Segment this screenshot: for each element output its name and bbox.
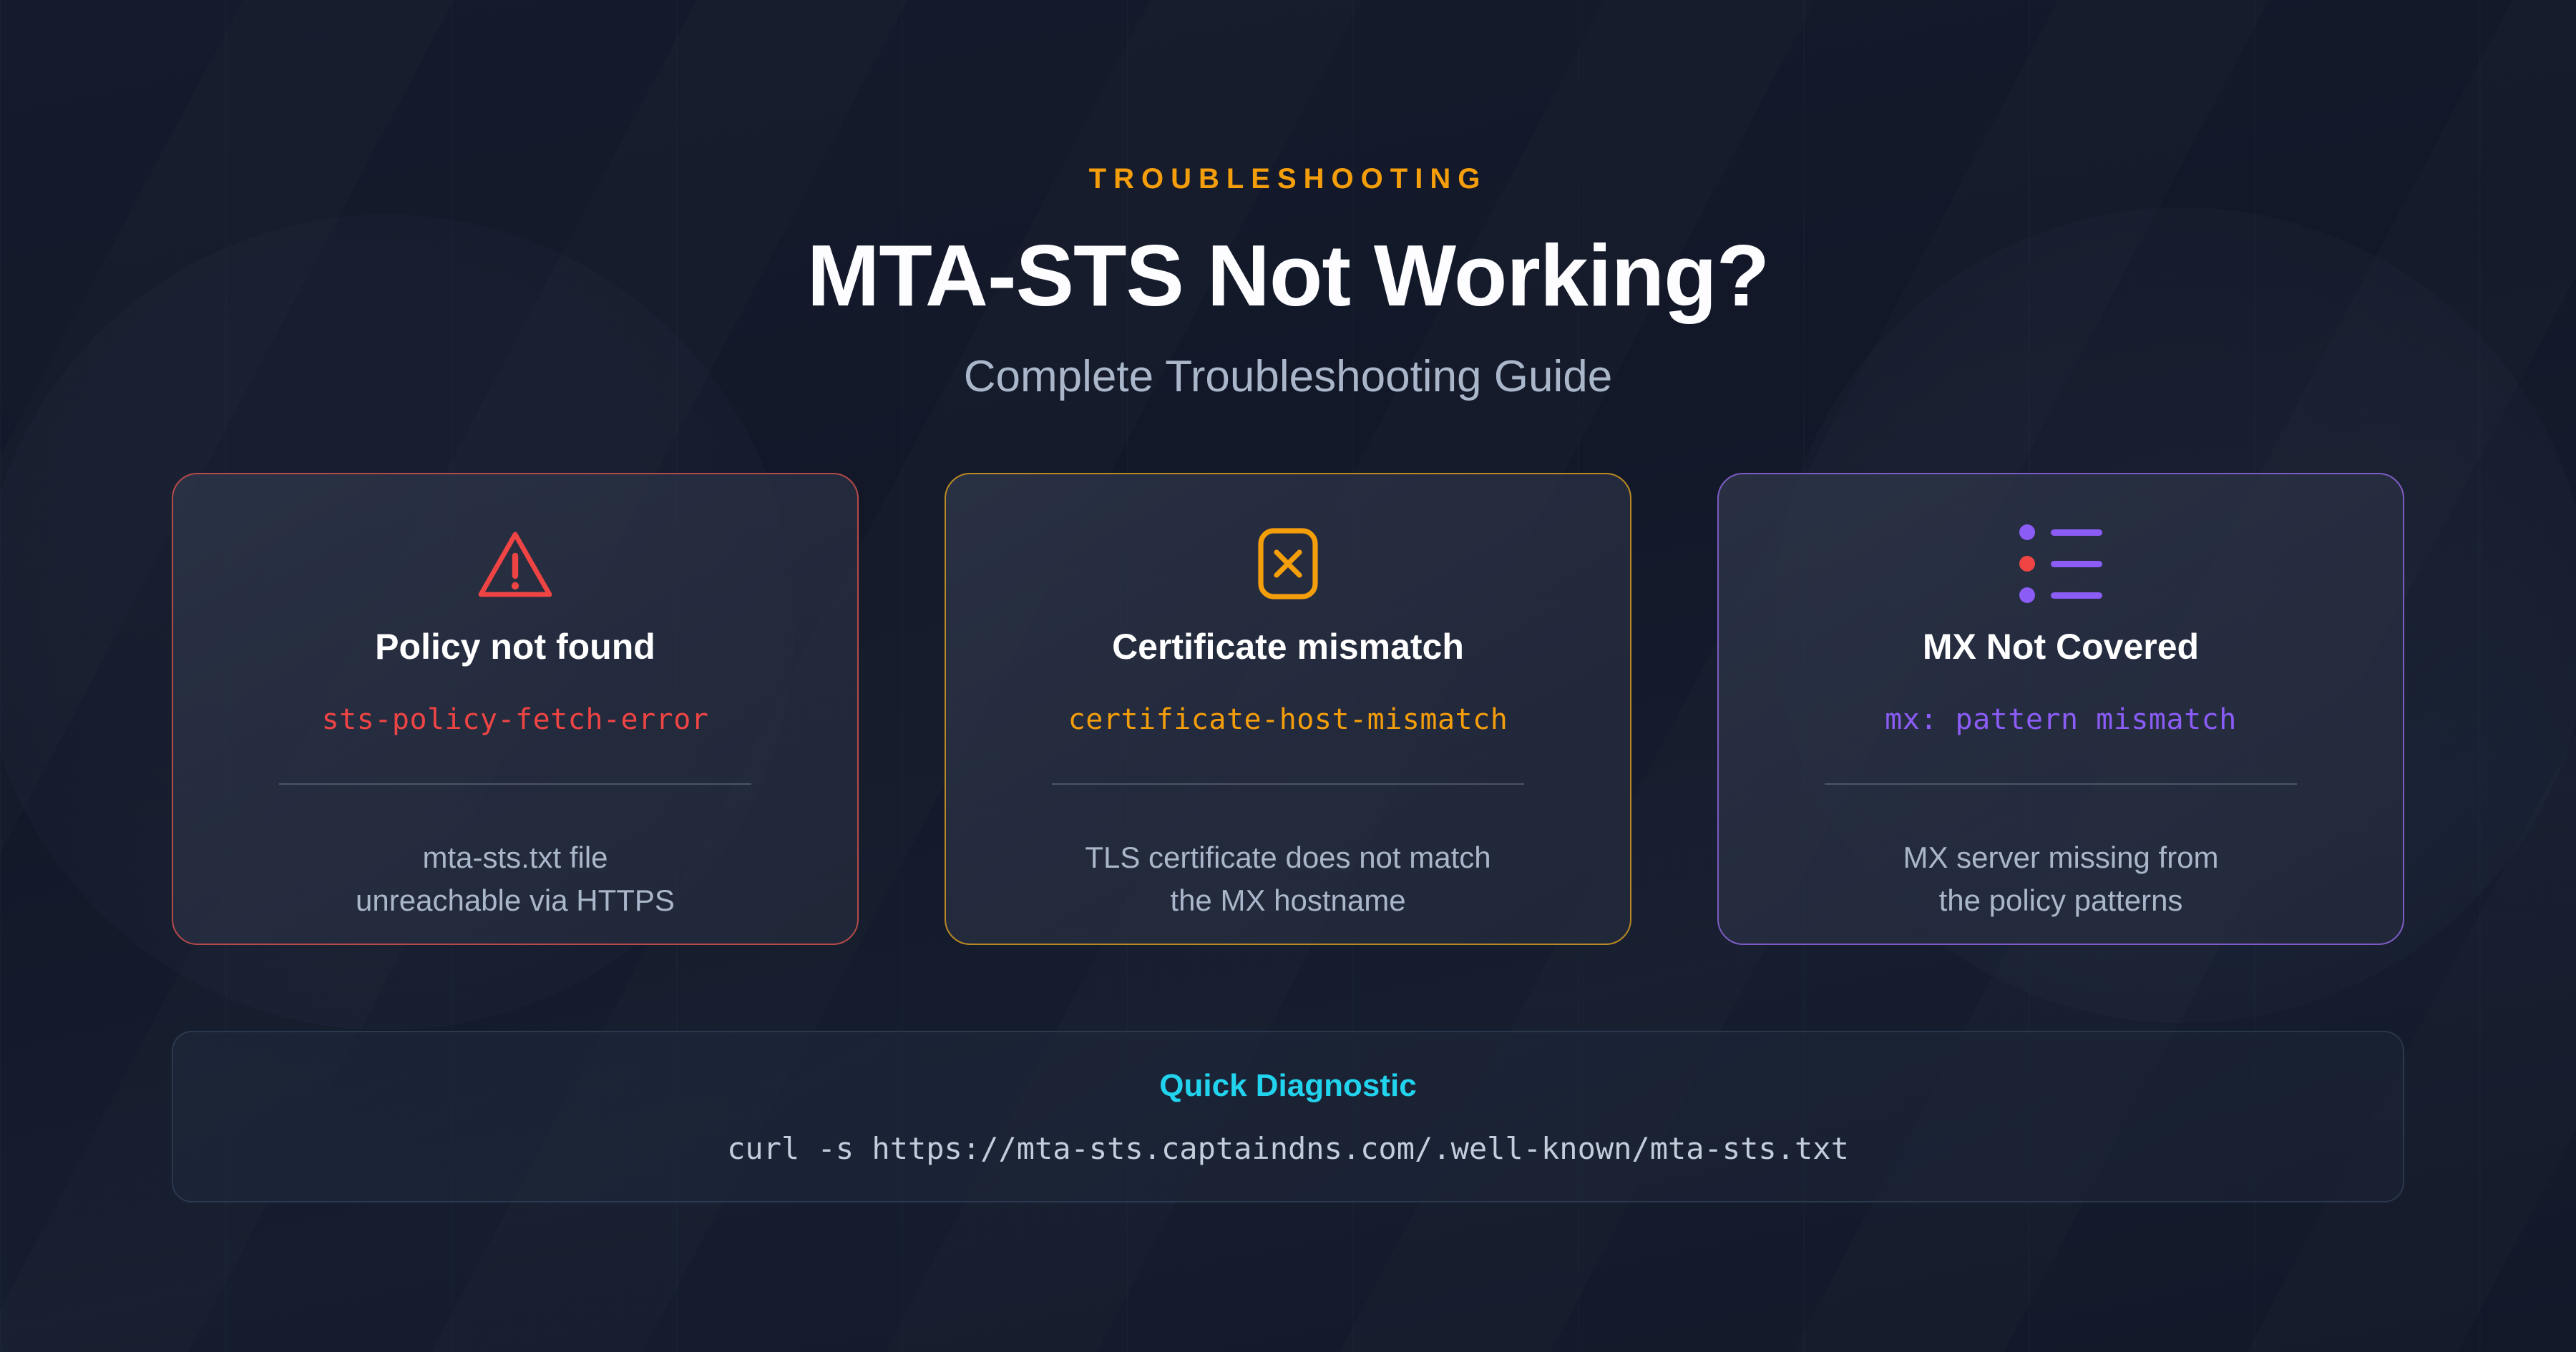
- card-divider: [279, 783, 751, 785]
- list-icon: [2019, 521, 2102, 606]
- list-bullet-bar: [2051, 529, 2102, 536]
- list-bullet-dot-alert: [2019, 556, 2035, 572]
- card-error-code: mx: pattern mismatch: [1885, 703, 2237, 736]
- quick-diagnostic-label: Quick Diagnostic: [1159, 1068, 1416, 1104]
- card-title: Policy not found: [375, 626, 655, 667]
- card-divider: [1825, 783, 2297, 785]
- card-description-line-2: the policy patterns: [1903, 879, 2218, 922]
- card-error-code: certificate-host-mismatch: [1068, 703, 1508, 736]
- card-description-line-1: mta-sts.txt file: [356, 836, 675, 879]
- quick-diagnostic-command[interactable]: curl -s https://mta-sts.captaindns.com/.…: [727, 1131, 1849, 1166]
- list-bullet-bar: [2051, 561, 2102, 567]
- error-cards-row: Policy not found sts-policy-fetch-error …: [172, 473, 2404, 945]
- error-card-mx-not-covered[interactable]: MX Not Covered mx: pattern mismatch MX s…: [1717, 473, 2404, 945]
- card-description-line-2: the MX hostname: [1085, 879, 1491, 922]
- list-icon-row: [2019, 524, 2102, 540]
- eyebrow-label: TROUBLESHOOTING: [1089, 163, 1488, 195]
- x-square-icon: [1257, 521, 1319, 606]
- page-title: MTA-STS Not Working?: [807, 230, 1769, 321]
- list-bullet-dot: [2019, 524, 2035, 540]
- page-subtitle: Complete Troubleshooting Guide: [964, 351, 1612, 402]
- error-card-certificate-mismatch[interactable]: Certificate mismatch certificate-host-mi…: [945, 473, 1631, 945]
- list-bullet-bar: [2051, 592, 2102, 599]
- card-divider: [1052, 783, 1524, 785]
- card-title: MX Not Covered: [1923, 626, 2199, 667]
- card-description: TLS certificate does not match the MX ho…: [1085, 836, 1491, 921]
- warning-triangle-icon: [477, 521, 554, 606]
- card-description-line-1: MX server missing from: [1903, 836, 2218, 879]
- card-description-line-1: TLS certificate does not match: [1085, 836, 1491, 879]
- error-card-policy-not-found[interactable]: Policy not found sts-policy-fetch-error …: [172, 473, 859, 945]
- card-title: Certificate mismatch: [1112, 626, 1464, 667]
- card-error-code: sts-policy-fetch-error: [322, 703, 709, 736]
- list-icon-row: [2019, 587, 2102, 603]
- list-bullet-dot: [2019, 587, 2035, 603]
- quick-diagnostic-panel: Quick Diagnostic curl -s https://mta-sts…: [172, 1031, 2404, 1202]
- card-description-line-2: unreachable via HTTPS: [356, 879, 675, 922]
- card-description: MX server missing from the policy patter…: [1903, 836, 2218, 921]
- card-description: mta-sts.txt file unreachable via HTTPS: [356, 836, 675, 921]
- list-icon-row: [2019, 556, 2102, 572]
- troubleshooting-page: TROUBLESHOOTING MTA-STS Not Working? Com…: [0, 0, 2576, 1352]
